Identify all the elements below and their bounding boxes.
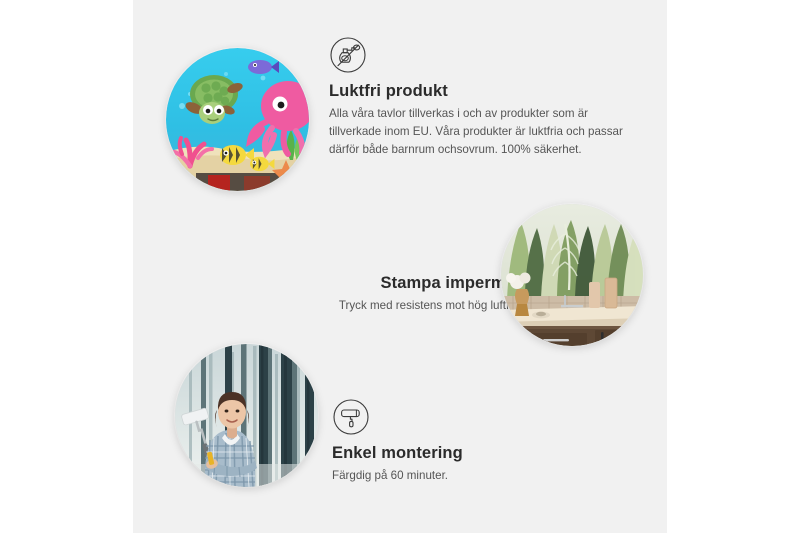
infographic-canvas: Luktfri produkt Alla våra tavlor tillver… [0,0,800,533]
feature-body: Färgdig på 60 minuter. [332,467,632,485]
feature-easy-mounting: Enkel montering Färgdig på 60 minuter. [332,398,632,485]
no-perfume-spray-icon [329,36,367,74]
photo-bathroom-botanical-wallpaper [501,204,643,346]
feature-title: Luktfri produkt [329,81,635,102]
photo-underwater-kids-motif [166,48,309,191]
paint-roller-icon [332,398,370,436]
feature-body: Tryck med resistens mot hög luftfuktighe… [223,297,553,315]
infographic-panel: Luktfri produkt Alla våra tavlor tillver… [133,0,667,533]
feature-title: Enkel montering [332,443,632,464]
photo-woman-painter-forest [175,344,318,487]
feature-odourless: Luktfri produkt Alla våra tavlor tillver… [329,36,635,160]
feature-body: Alla våra tavlor tillverkas i och av pro… [329,105,629,160]
